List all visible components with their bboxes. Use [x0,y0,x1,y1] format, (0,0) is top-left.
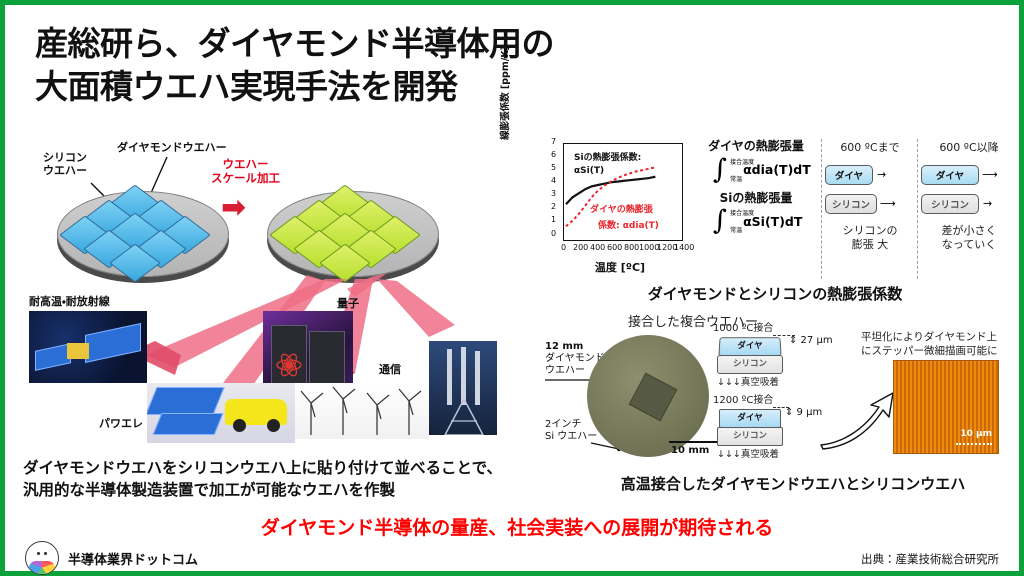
chart-x-axis-label: 温度 [ºC] [555,259,685,275]
title-line-1: 産総研ら、ダイヤモンド半導体用の [35,23,795,66]
page-title: 産総研ら、ダイヤモンド半導体用の 大面積ウエハ実現手法を開発 [35,23,795,109]
y-tick: 0 [551,229,556,238]
app-label-communication: 通信 [379,363,401,376]
caption-bottom-left: ダイヤモンドウエハをシリコンウエハ上に貼り付けて並べることで、 汎用的な半導体製… [23,457,523,502]
footer-logo[interactable]: 半導体業界ドットコム [25,541,198,575]
formula-diamond: ∫ 接合温度 常温 αdia(T)dT [713,157,815,183]
expansion-formula-block: ダイヤの熱膨張量 ∫ 接合温度 常温 αdia(T)dT Siの熱膨張量 ∫ 接… [697,139,815,234]
diamond-chip: ダイヤ [825,165,873,185]
stack-layer-silicon: シリコン [717,355,783,374]
sem-scale-bar [956,440,992,445]
mascot-avatar-icon [25,541,59,575]
label-silicon-wafer: シリコン ウエハー [43,151,87,178]
app-label-hightemp: 耐高温・耐放射線 [29,295,110,308]
expansion-arrow-icon: ⟶ [982,168,998,181]
chart-annotation-si-2: αSi(T) [574,166,604,176]
panel-divider [917,139,918,279]
curved-arrow-to-sem [817,391,897,451]
sem-note: 平坦化によりダイヤモンド上 にステッパー微細描画可能に [861,331,1021,358]
satellite-photo [29,311,147,383]
sem-scale-label: 10 μm [960,429,992,439]
x-tick: 0 [561,243,566,252]
formula-silicon: ∫ 接合温度 常温 αSi(T)dT [713,208,815,234]
chart-annotation-dia-1: ダイヤの熱膨張 [590,202,653,215]
composite-wafer-photo [587,335,709,457]
x-tick: 400 [590,243,605,252]
caption-bottom-right: 高温接合したダイヤモンドウエハとシリコンウエハ [593,473,993,494]
bonded-stack-1200c: ダイヤ シリコン [717,409,783,449]
wafer-scale-label: 10 mm [671,445,709,457]
panel-heading: 600 ºC以降 [921,141,1017,155]
wafer-scale-bar [669,441,717,443]
title-line-2: 大面積ウエハ実現手法を開発 [35,66,795,109]
x-tick: 600 [607,243,622,252]
wind-turbines-photo [295,383,429,439]
panel-note-line-1: シリコンの [825,224,915,238]
panel-note-line-2: 膨張 大 [825,238,915,252]
chart-annotation-si-1: Siの熱膨張係数: [574,150,641,163]
ev-solar-photo [147,383,295,443]
panel-divider [821,139,822,279]
stack-layer-silicon: シリコン [717,427,783,446]
bonding-heading-1200c: 1200 ºC接合 [713,395,773,408]
temp-panel-up-to-600: 600 ºCまで ダイヤ → シリコン ⟶ シリコンの 膨張 大 [825,141,915,251]
panel-heading: 600 ºCまで [825,141,915,155]
bow-value-1000c: ⇕ 27 μm [789,335,833,347]
expansion-arrow-icon: → [983,197,992,210]
y-tick: 5 [551,163,556,172]
integrand-silicon: αSi(T)dT [743,214,802,229]
diamond-die-on-wafer [629,373,678,422]
x-tick: 800 [624,243,639,252]
expansion-arrow-icon: ⟶ [880,197,896,210]
chart-caption: ダイヤモンドとシリコンの熱膨張係数 [605,283,945,304]
chart-y-axis-label: 線膨張係数 [ppm/K] [497,43,511,143]
bonded-stack-1000c: ダイヤ シリコン [717,337,783,377]
y-tick: 7 [551,137,556,146]
app-label-quantum: 量子 [337,297,359,310]
silicon-chip: シリコン [921,194,979,214]
stack-layer-diamond: ダイヤ [719,409,781,428]
y-tick: 1 [551,215,556,224]
formula-title-diamond: ダイヤの熱膨張量 [697,139,815,154]
bonding-heading-1000c: 1000 ºC接合 [713,323,773,336]
app-label-power-electronics: パワエレ [99,417,143,430]
integral-sign-icon: ∫ [713,159,727,181]
y-tick: 2 [551,202,556,211]
y-tick: 4 [551,176,556,185]
stack-layer-diamond: ダイヤ [718,337,781,356]
panel-note-line-1: 差が小さく [921,224,1017,238]
y-tick: 6 [551,150,556,159]
chart-annotation-dia-2: 係数: αdia(T) [598,218,659,231]
silicon-chip: シリコン [825,194,877,214]
vacuum-note-1200c: ↓↓↓真空吸着 [717,449,779,461]
x-tick: 1400 [674,243,694,252]
label-wafer-scale-process: ウエハー スケール加工 [211,157,280,186]
conclusion-text: ダイヤモンド半導体の量産、社会実装への展開が期待される [5,513,1024,540]
vacuum-note-1000c: ↓↓↓真空吸着 [717,377,779,389]
integrand-diamond: αdia(T)dT [743,162,811,177]
thermal-expansion-chart: 線膨張係数 [ppm/K] 7 6 5 4 3 2 1 0 Siの熱膨張係数: … [525,137,695,287]
label-diamond-wafer: ダイヤモンドウエハー [117,141,227,154]
chart-plot-area: Siの熱膨張係数: αSi(T) ダイヤの熱膨張 係数: αdia(T) [563,143,683,241]
integral-sign-icon: ∫ [713,210,727,232]
antenna-tower-photo [429,341,497,435]
slide-root: 産総研ら、ダイヤモンド半導体用の 大面積ウエハ実現手法を開発 シリコン ウエハー… [0,0,1024,576]
temp-panel-above-600: 600 ºC以降 ダイヤ ⟶ シリコン → 差が小さく なっていく [921,141,1017,251]
footer-site-name: 半導体業界ドットコム [68,549,198,568]
source-attribution: 出典：産業技術総合研究所 [861,551,999,567]
y-tick: 3 [551,189,556,198]
x-tick: 200 [573,243,588,252]
expansion-arrow-icon: → [877,168,886,181]
diamond-chip: ダイヤ [921,165,979,185]
panel-note-line-2: なっていく [921,238,1017,252]
sem-surface-image: 10 μm [893,360,999,454]
formula-title-silicon: Siの熱膨張量 [697,191,815,206]
